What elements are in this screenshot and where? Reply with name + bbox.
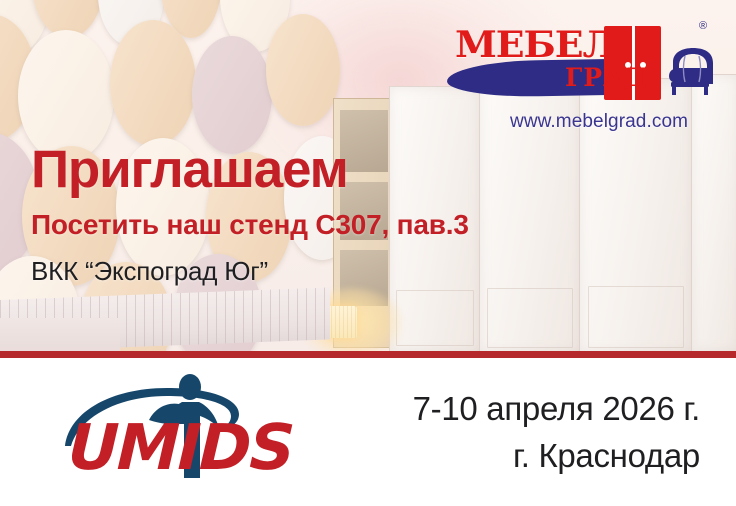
mebelgrad-logo[interactable]: МЕБЕЛЬ ГРАД ®	[447, 18, 713, 104]
event-dates: 7-10 апреля 2026 г.	[280, 386, 700, 433]
headline-stand: Посетить наш стенд С307, пав.3	[31, 211, 469, 239]
background-photo: МЕБЕЛЬ ГРАД ® www.mebelgrad.com	[0, 0, 736, 351]
table-lamp	[327, 306, 357, 338]
umids-wordmark: UMIDS	[67, 416, 294, 479]
armchair-icon	[663, 44, 717, 96]
red-divider	[0, 351, 736, 358]
promo-banner: МЕБЕЛЬ ГРАД ® www.mebelgrad.com	[0, 0, 736, 506]
footer-band: UMIDS 7-10 апреля 2026 г. г. Краснодар	[0, 358, 736, 506]
trademark-symbol: ®	[699, 20, 707, 32]
floor-band	[0, 318, 120, 351]
headline-venue: ВКК “Экспоград Юг”	[31, 258, 268, 284]
umids-logo[interactable]: UMIDS	[63, 378, 298, 483]
wardrobe-panel	[691, 74, 736, 351]
website-url[interactable]: www.mebelgrad.com	[510, 111, 688, 133]
event-info: 7-10 апреля 2026 г. г. Краснодар	[280, 386, 700, 480]
event-city: г. Краснодар	[280, 433, 700, 480]
logo-word-grad: ГРАД	[565, 63, 648, 92]
headline-invite: Приглашаем	[31, 143, 348, 196]
